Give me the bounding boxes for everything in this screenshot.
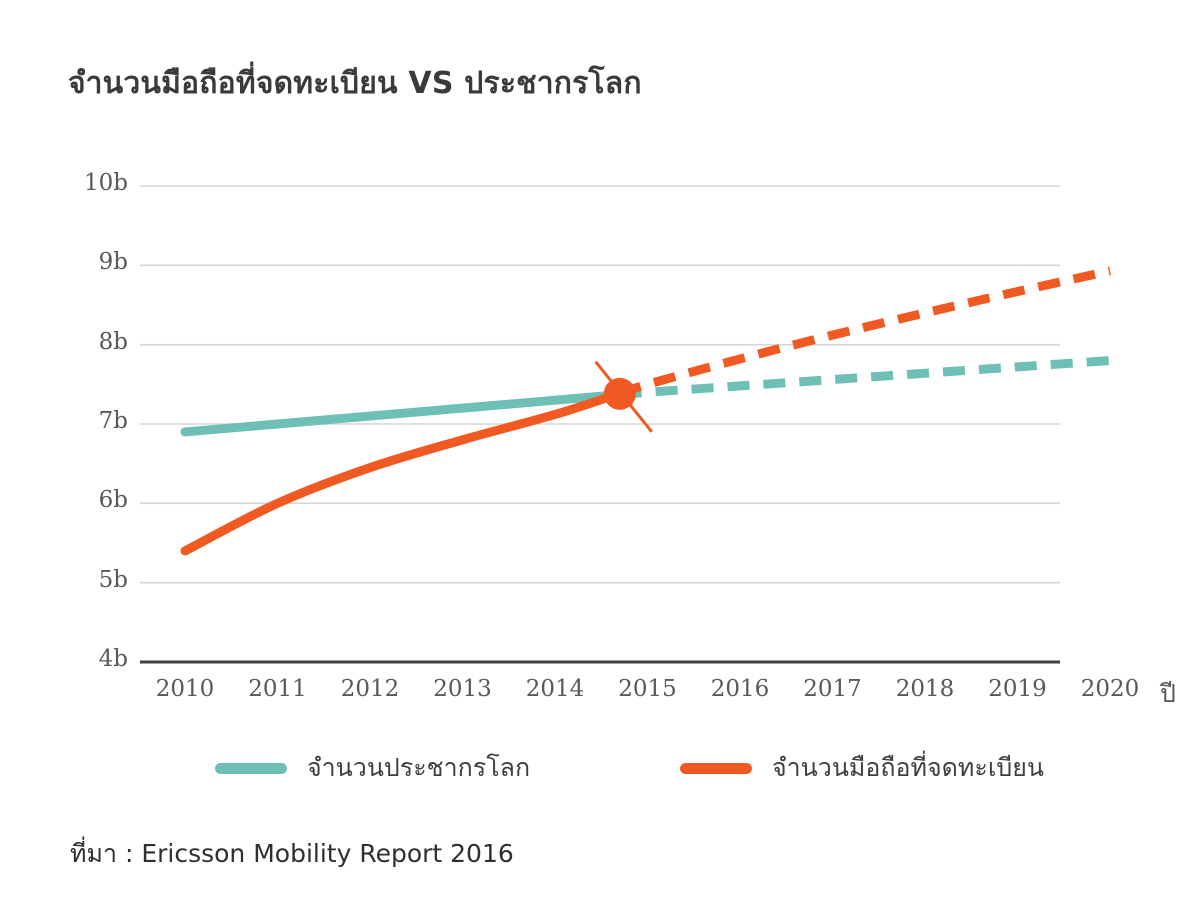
y-axis-tick-label: 5b	[68, 567, 128, 593]
x-axis-tick-label: 2016	[692, 676, 788, 702]
x-axis-tick-label: 2018	[877, 676, 973, 702]
y-axis-tick-label: 7b	[68, 408, 128, 434]
series-group	[185, 271, 1110, 551]
y-axis-tick-label: 10b	[68, 170, 128, 196]
source-note: ที่มา : Ericsson Mobility Report 2016	[70, 834, 514, 874]
x-axis-tick-label: 2011	[230, 676, 326, 702]
legend-item-world-population[interactable]: จำนวนประชากรโลก	[215, 748, 530, 788]
legend-swatch-orange-icon	[680, 763, 752, 774]
x-axis-tick-label: 2017	[785, 676, 881, 702]
legend-swatch-teal-icon	[215, 763, 287, 774]
x-axis-title: ปี	[1160, 674, 1176, 714]
legend-label-mobile-subscriptions: จำนวนมือถือที่จดทะเบียน	[772, 748, 1044, 788]
y-axis-tick-label: 6b	[68, 487, 128, 513]
x-axis-tick-label: 2013	[415, 676, 511, 702]
y-axis-tick-label: 9b	[68, 249, 128, 275]
series-line-dashed-mobile_subscriptions	[620, 271, 1110, 393]
crossover-point-marker[interactable]	[604, 378, 636, 410]
x-axis-tick-label: 2010	[137, 676, 233, 702]
y-axis-tick-label: 8b	[68, 329, 128, 355]
x-axis-tick-label: 2020	[1062, 676, 1158, 702]
series-line-dashed-world_population	[620, 361, 1110, 395]
y-axis-tick-label: 4b	[68, 646, 128, 672]
x-axis-tick-label: 2012	[322, 676, 418, 702]
legend-label-world-population: จำนวนประชากรโลก	[307, 748, 530, 788]
chart-legend: จำนวนประชากรโลก จำนวนมือถือที่จดทะเบียน	[0, 748, 1200, 794]
legend-item-mobile-subscriptions[interactable]: จำนวนมือถือที่จดทะเบียน	[680, 748, 1044, 788]
x-axis-tick-label: 2014	[507, 676, 603, 702]
chart-page: จำนวนมือถือที่จดทะเบียน VS ประชากรโลก 4b…	[0, 0, 1200, 916]
annotation-group	[596, 362, 652, 432]
x-axis-tick-label: 2015	[600, 676, 696, 702]
x-axis-tick-label: 2019	[970, 676, 1066, 702]
